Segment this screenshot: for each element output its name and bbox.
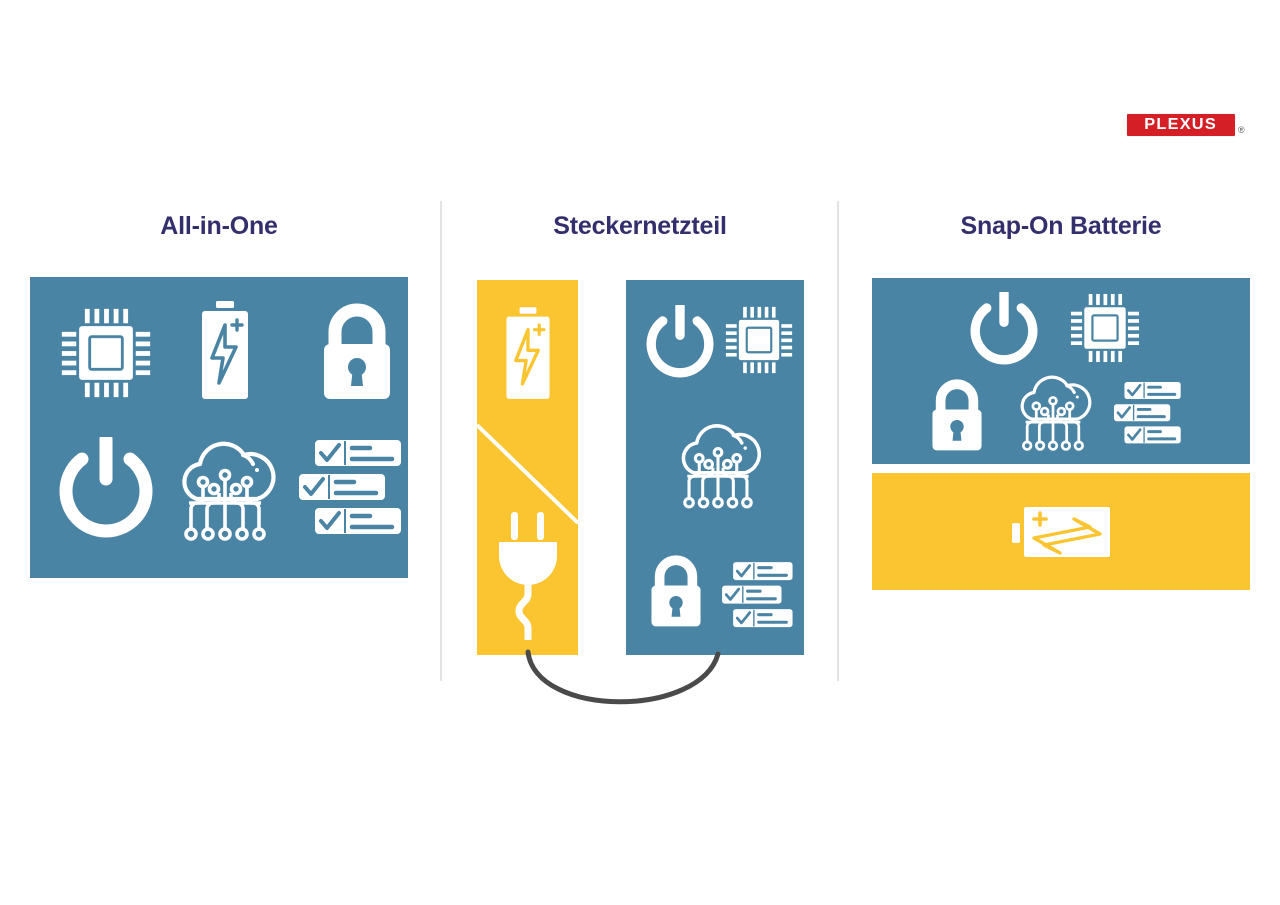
- slide-canvas: PLEXUS ® All-in-One Steckernetzteil Snap…: [0, 0, 1280, 905]
- registered-trademark-icon: ®: [1238, 126, 1245, 135]
- chip-icon: [1068, 291, 1142, 365]
- chip-icon: [58, 305, 154, 401]
- plexus-logo: PLEXUS: [1127, 114, 1235, 136]
- psu-yellow-panel: [477, 280, 578, 655]
- column-title-snap-on-batterie: Snap-On Batterie: [872, 212, 1250, 241]
- column-divider-left: [440, 201, 442, 681]
- snap-on-blue-panel: [872, 278, 1250, 464]
- column-divider-right: [837, 201, 839, 681]
- checklist-icon: [1112, 380, 1184, 448]
- checklist-icon: [296, 437, 406, 541]
- lock-icon: [647, 552, 705, 628]
- power-icon: [644, 305, 716, 383]
- cloud-network-icon: [171, 437, 279, 545]
- power-icon: [56, 437, 156, 545]
- battery-bolt-icon: [194, 301, 256, 401]
- battery-bolt-icon: [499, 305, 557, 403]
- lock-icon: [928, 376, 986, 452]
- power-cable-connector: [470, 640, 790, 730]
- checklist-icon: [720, 560, 796, 632]
- lock-icon: [318, 299, 396, 401]
- plexus-logo-wordmark: PLEXUS: [1145, 117, 1218, 134]
- all-in-one-panel: [30, 277, 408, 578]
- snap-on-yellow-panel: [872, 473, 1250, 590]
- chip-icon: [723, 304, 795, 376]
- cloud-network-icon: [672, 420, 764, 512]
- power-icon: [968, 292, 1040, 370]
- column-title-steckernetzteil: Steckernetzteil: [470, 212, 810, 241]
- cloud-network-icon: [1012, 372, 1094, 454]
- battery-horizontal-bolt-icon: [1012, 505, 1110, 559]
- column-title-all-in-one: All-in-One: [30, 212, 408, 241]
- power-plug-icon: [495, 512, 561, 640]
- psu-blue-panel: [626, 280, 804, 655]
